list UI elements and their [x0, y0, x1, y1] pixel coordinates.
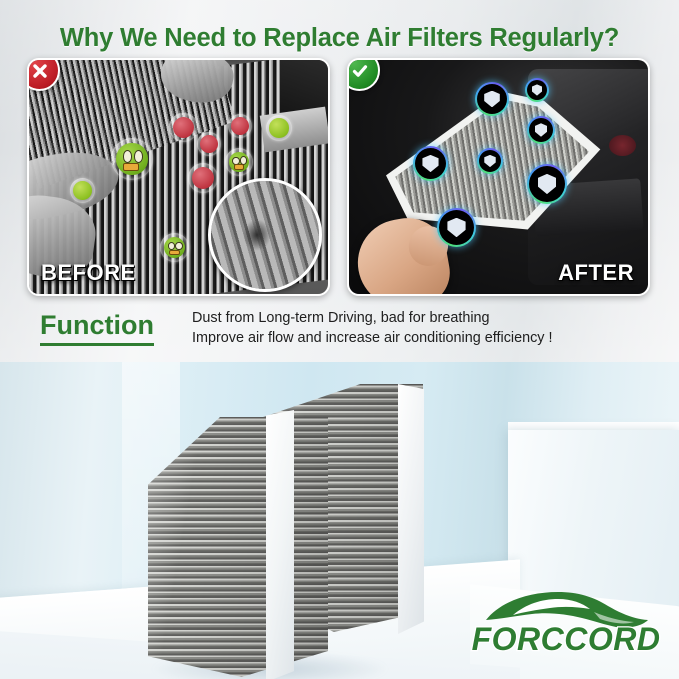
after-label: AFTER: [558, 260, 634, 286]
after-photo: [349, 60, 648, 294]
before-photo: [29, 60, 328, 294]
function-label: Function: [40, 309, 154, 346]
shield-icon: [477, 148, 503, 174]
germ-bubble: [160, 233, 189, 262]
germ-bubble: [70, 178, 95, 203]
germ-bubble: [197, 132, 221, 156]
shield-icon: [525, 78, 549, 102]
filter-frame-front: [266, 410, 294, 679]
shield-icon: [527, 116, 555, 144]
germ-bubble: [228, 114, 252, 138]
germ-bubble: [225, 148, 253, 176]
function-description: Dust from Long-term Driving, bad for bre…: [192, 308, 552, 348]
germ-bubble: [111, 138, 153, 180]
shield-icon: [527, 164, 567, 204]
shield-icon: [437, 208, 476, 247]
magnified-dirt-inset: [208, 178, 322, 292]
brand-name: FORCCORD: [472, 621, 661, 656]
brand-logo: FORCCORD: [466, 584, 666, 656]
after-panel: AFTER: [347, 58, 650, 296]
product-marketing-image: Why We Need to Replace Air Filters Regul…: [0, 0, 679, 679]
function-line-2: Improve air flow and increase air condit…: [192, 328, 552, 348]
function-line-1: Dust from Long-term Driving, bad for bre…: [192, 308, 552, 328]
engine-red-detail: [609, 135, 636, 156]
germ-bubble: [266, 115, 292, 141]
before-label: BEFORE: [41, 260, 136, 286]
shield-icon: [475, 82, 509, 116]
magnified-dirt-spot: [243, 219, 271, 251]
shield-icon: [413, 146, 448, 181]
function-section: Function Dust from Long-term Driving, ba…: [40, 309, 650, 355]
germ-bubble: [169, 113, 198, 142]
page-title: Why We Need to Replace Air Filters Regul…: [0, 24, 679, 53]
before-panel: BEFORE: [27, 58, 330, 296]
filter-frame-back: [398, 384, 424, 634]
